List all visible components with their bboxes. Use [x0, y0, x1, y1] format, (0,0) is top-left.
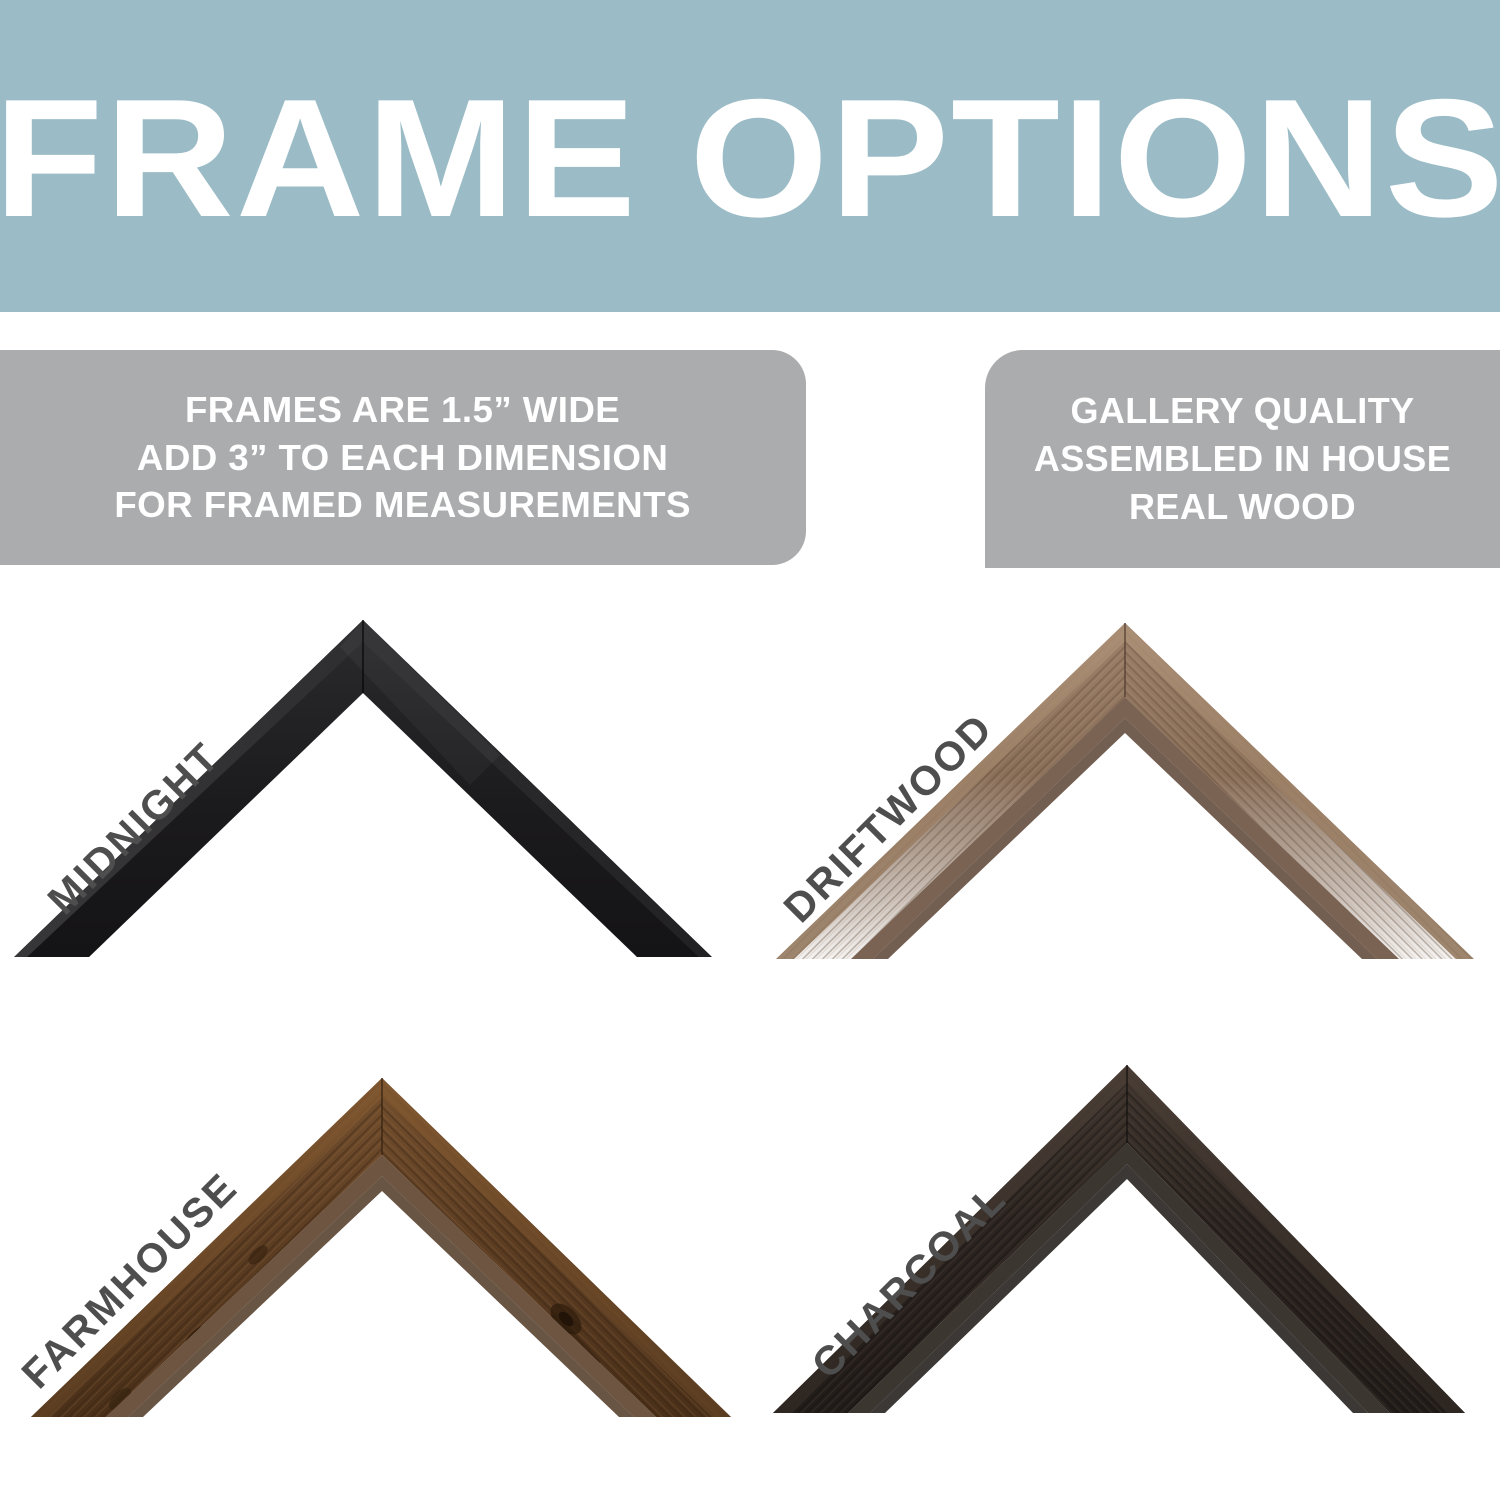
- quality-info-box: GALLERY QUALITY ASSEMBLED IN HOUSE REAL …: [985, 350, 1500, 568]
- header-banner: FRAME OPTIONS: [0, 0, 1500, 312]
- frame-options-grid: MIDNIGHT: [0, 585, 1500, 1500]
- quality-line-3: REAL WOOD: [1034, 483, 1451, 531]
- quality-line-2: ASSEMBLED IN HOUSE: [1034, 435, 1451, 483]
- frame-corner-charcoal: [750, 1043, 1500, 1453]
- quality-line-1: GALLERY QUALITY: [1034, 387, 1451, 435]
- page-title: FRAME OPTIONS: [0, 73, 1500, 239]
- frame-size-info-text: FRAMES ARE 1.5” WIDE ADD 3” TO EACH DIME…: [115, 386, 692, 530]
- frame-corner-driftwood: [750, 585, 1500, 995]
- frame-size-line-2: ADD 3” TO EACH DIMENSION: [115, 434, 692, 482]
- frame-corner-midnight: [0, 585, 750, 995]
- frame-option-charcoal[interactable]: CHARCOAL: [750, 1043, 1500, 1501]
- frame-size-info-box: FRAMES ARE 1.5” WIDE ADD 3” TO EACH DIME…: [0, 350, 806, 565]
- frame-corner-farmhouse: [0, 1043, 750, 1453]
- frame-option-midnight[interactable]: MIDNIGHT: [0, 585, 750, 1043]
- frame-size-line-3: FOR FRAMED MEASUREMENTS: [115, 481, 692, 529]
- quality-info-text: GALLERY QUALITY ASSEMBLED IN HOUSE REAL …: [1034, 387, 1451, 531]
- frame-option-driftwood[interactable]: DRIFTWOOD: [750, 585, 1500, 1043]
- frame-size-line-1: FRAMES ARE 1.5” WIDE: [115, 386, 692, 434]
- frame-option-farmhouse[interactable]: FARMHOUSE: [0, 1043, 750, 1501]
